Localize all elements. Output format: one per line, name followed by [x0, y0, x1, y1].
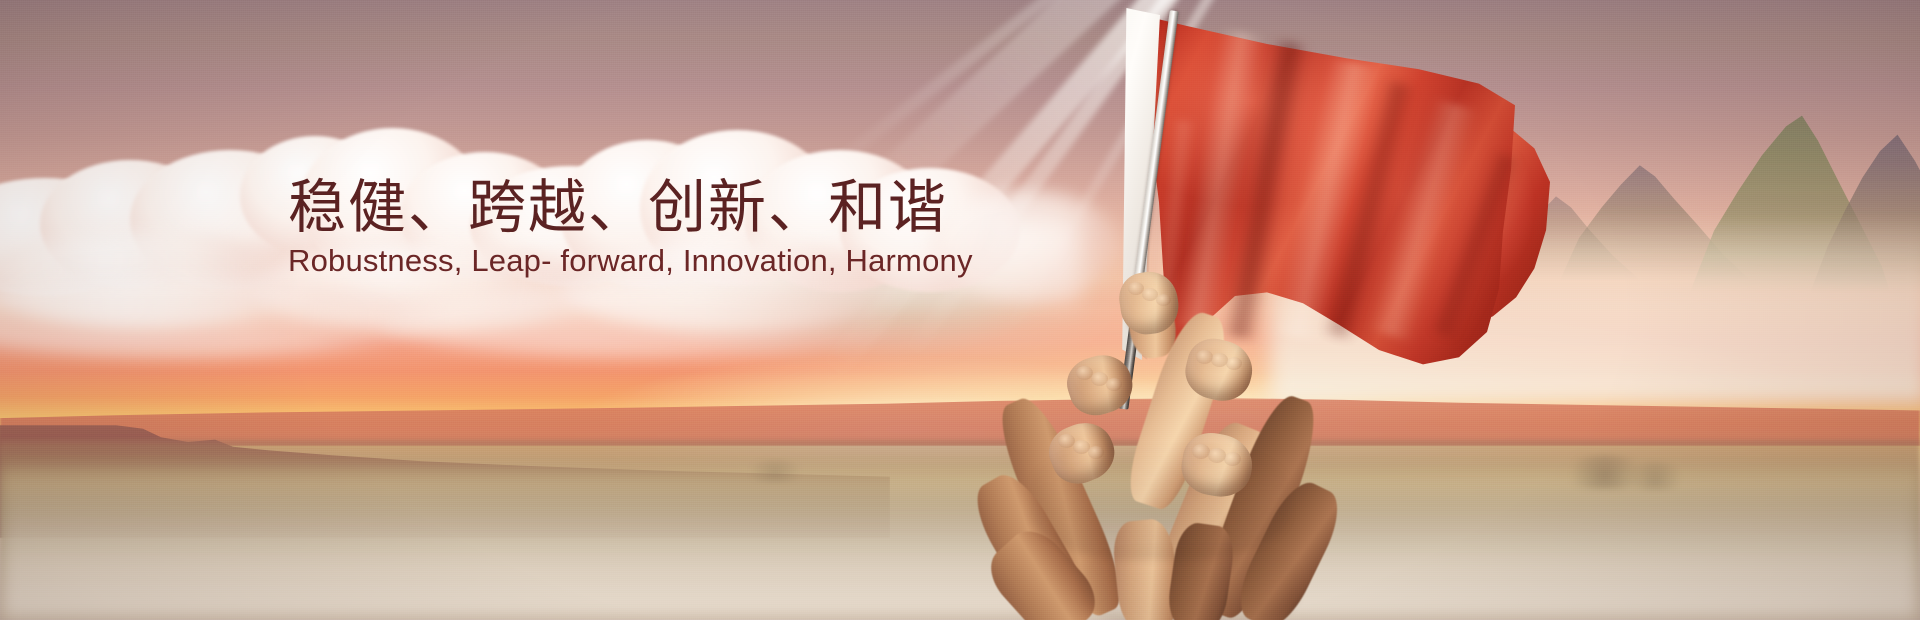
cloud-puff [0, 232, 310, 328]
plain-sheen [0, 455, 1920, 525]
banner-root: v v v v v v 稳健、跨越、创新、和谐 Robustness, Leap… [0, 0, 1920, 620]
cloud-puff [40, 160, 220, 288]
bird-group: v v v v v v [0, 0, 1920, 620]
scrub-bush [1560, 455, 1650, 489]
mountain-group [0, 0, 1920, 620]
scrub-bush [1620, 462, 1690, 490]
page-title: 稳健、跨越、创新、和谐 [288, 175, 928, 239]
sun-glow [0, 0, 1920, 620]
film-grain [0, 0, 1920, 620]
cloud-group [0, 0, 1920, 620]
sky-gradient [0, 0, 1920, 620]
distant-ridge [0, 398, 1920, 446]
vignette [0, 0, 1920, 620]
cloud-wisp [0, 278, 440, 358]
scrub-bush [740, 460, 810, 482]
open-plain [0, 440, 1920, 620]
plateau-mesa [0, 418, 890, 538]
teal-light-cast [0, 0, 1920, 620]
slogan-text-block: 稳健、跨越、创新、和谐 Robustness, Leap- forward, I… [288, 175, 928, 279]
mountain-peak [1560, 140, 1750, 280]
sun-rays-group [0, 0, 1920, 620]
knuckle [1106, 378, 1122, 391]
knuckle [1156, 294, 1171, 306]
ground-mist [0, 470, 1920, 620]
ground-group [0, 0, 1920, 620]
cloud-wisp [380, 286, 900, 358]
cloud-puff [0, 178, 150, 296]
knuckle [1226, 357, 1242, 370]
mountain-peak [1810, 128, 1920, 293]
sun-glow-core [0, 0, 1920, 620]
mountain-peak [1690, 112, 1890, 292]
page-subtitle: Robustness, Leap- forward, Innovation, H… [288, 243, 928, 279]
hand-shadow [1080, 540, 1300, 620]
